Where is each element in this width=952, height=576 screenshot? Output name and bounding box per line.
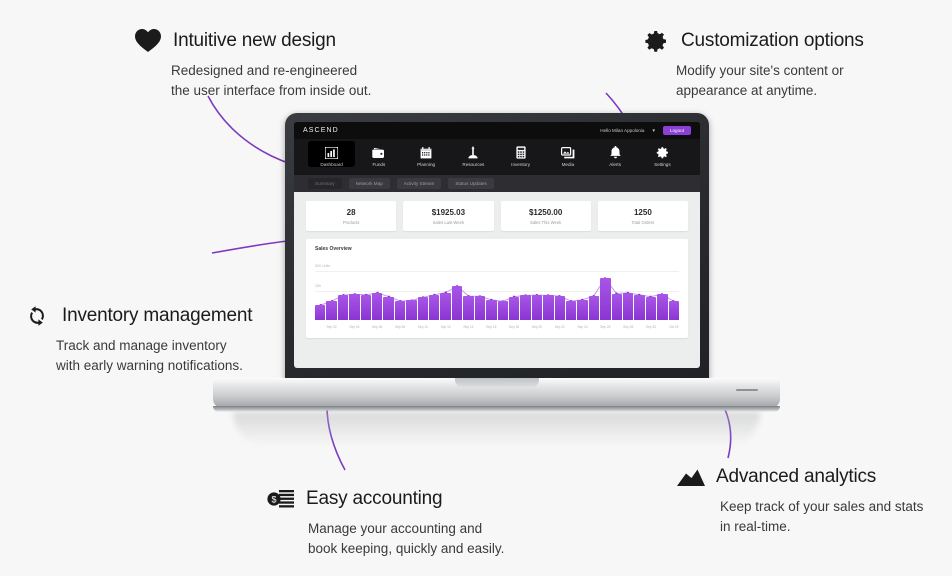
feature-advanced-analytics: Advanced analytics Keep track of your sa…: [676, 462, 923, 536]
x-tick-label: [634, 325, 644, 329]
laptop-lid: ASCEND Hello Milan Appolonia ▼ Logout Da…: [285, 113, 709, 382]
x-tick-label: [315, 325, 325, 329]
wallet-icon: [372, 145, 385, 160]
feature-customization-options: Customization options Modify your site's…: [641, 26, 864, 100]
chart-bar: [372, 293, 382, 320]
nav-label: Resources: [462, 162, 484, 167]
stat-value: 28: [306, 208, 396, 217]
chart-bar: [463, 296, 473, 320]
chart-bar: [361, 295, 371, 320]
chart-bar: [657, 294, 667, 320]
feature-desc: Keep track of your sales and statsin rea…: [720, 497, 923, 536]
chart-bar: [520, 295, 530, 320]
x-tick-label: [383, 325, 393, 329]
x-tick-label: [566, 325, 576, 329]
nav-item-settings[interactable]: Settings: [639, 141, 686, 167]
chart-x-axis: Sep 02Sep 04Sep 06Sep 08Sep 10Sep 12Sep …: [315, 325, 679, 329]
tab-summary[interactable]: Summary: [308, 178, 342, 189]
feature-intuitive-design: Intuitive new design Redesigned and re-e…: [133, 26, 371, 100]
refresh-arrows-icon: [22, 301, 52, 331]
chart-bar: [452, 286, 462, 320]
x-tick-label: Sep 30: [646, 325, 656, 329]
photos-icon: [561, 145, 575, 160]
sales-overview-panel: Sales Overview 500 Units 250 Sep 02S: [306, 239, 688, 338]
logout-button[interactable]: Logout: [663, 126, 691, 135]
chart-bar: [429, 295, 439, 320]
calendar-icon: [420, 145, 432, 160]
tab-status-updates[interactable]: Status Updates: [448, 178, 493, 189]
chart-title: Sales Overview: [315, 246, 679, 252]
stat-label: Sales This Week: [501, 220, 591, 225]
nav-label: Media: [562, 162, 575, 167]
tab-network-map[interactable]: Network Map: [349, 178, 390, 189]
x-tick-label: Sep 28: [623, 325, 633, 329]
feature-desc: Manage your accounting andbook keeping, …: [308, 519, 504, 558]
feature-title: Customization options: [681, 30, 864, 52]
chart-bar: [326, 301, 336, 320]
chart-bar: [543, 295, 553, 320]
laptop-mockup: ASCEND Hello Milan Appolonia ▼ Logout Da…: [213, 113, 780, 433]
nav-item-alerts[interactable]: Alerts: [592, 141, 639, 167]
chart-bar: [418, 297, 428, 320]
feature-title: Intuitive new design: [173, 30, 336, 52]
x-tick-label: Sep 04: [349, 325, 359, 329]
chevron-down-icon[interactable]: ▼: [651, 128, 655, 133]
chart-bar: [406, 300, 416, 320]
heart-icon: [133, 26, 163, 56]
nav-item-funds[interactable]: Funds: [355, 141, 402, 167]
bar-chart-icon: [325, 145, 338, 160]
x-tick-label: Sep 18: [509, 325, 519, 329]
x-tick-label: [429, 325, 439, 329]
chart-bar: [566, 301, 576, 320]
chart-bar: [383, 297, 393, 320]
x-tick-label: Sep 24: [577, 325, 587, 329]
chart-bar: [577, 300, 587, 320]
chart-bar: [589, 296, 599, 320]
x-tick-label: Sep 20: [532, 325, 542, 329]
stat-label: Total Orders: [598, 220, 688, 225]
nav-label: Planning: [417, 162, 435, 167]
money-invoice-icon: $: [266, 484, 296, 514]
nav-item-media[interactable]: Media: [544, 141, 591, 167]
chart-bar: [395, 301, 405, 320]
nav-item-dashboard[interactable]: Dashboard: [308, 141, 355, 167]
stat-card-row: 28 Products $1925.03 Sales Last Week $12…: [306, 201, 688, 231]
stat-value: $1250.00: [501, 208, 591, 217]
nav-label: Funds: [372, 162, 385, 167]
x-tick-label: Sep 08: [395, 325, 405, 329]
chart-bar: [475, 296, 485, 320]
tab-activity-stream[interactable]: Activity Stream: [397, 178, 442, 189]
laptop-reflection: [233, 412, 760, 446]
svg-text:$: $: [271, 495, 276, 505]
chart-bar: [532, 295, 542, 320]
app-topbar: ASCEND Hello Milan Appolonia ▼ Logout: [294, 122, 700, 139]
x-tick-label: Sep 14: [463, 325, 473, 329]
chart-bar: [555, 296, 565, 320]
feature-title: Advanced analytics: [716, 466, 876, 488]
feature-easy-accounting: $ Easy accounting Manage your accounting…: [266, 484, 504, 558]
x-tick-label: Sep 12: [440, 325, 450, 329]
chart-growth-icon: [676, 462, 706, 492]
sales-chart[interactable]: 500 Units 250 Sep 02Sep 04Sep 06Sep 08Se…: [315, 257, 679, 329]
chart-bar: [669, 301, 679, 320]
stat-card[interactable]: $1925.03 Sales Last Week: [403, 201, 493, 231]
x-tick-label: [361, 325, 371, 329]
nav-item-inventory[interactable]: Inventory: [497, 141, 544, 167]
chart-bar: [509, 297, 519, 320]
app-logo: ASCEND: [303, 127, 339, 134]
stat-value: 1250: [598, 208, 688, 217]
chart-bar: [498, 301, 508, 320]
nav-label: Dashboard: [320, 162, 342, 167]
x-tick-label: Sep 10: [418, 325, 428, 329]
laptop-screen: ASCEND Hello Milan Appolonia ▼ Logout Da…: [294, 122, 700, 368]
stat-card[interactable]: 1250 Total Orders: [598, 201, 688, 231]
x-tick-label: Sep 22: [555, 325, 565, 329]
app-navbar: Dashboard Funds Planning: [294, 139, 700, 175]
gear-icon: [641, 26, 671, 56]
x-tick-label: [520, 325, 530, 329]
stat-value: $1925.03: [403, 208, 493, 217]
x-tick-label: Oct 02: [669, 325, 679, 329]
chart-bar: [634, 295, 644, 320]
nav-label: Inventory: [511, 162, 530, 167]
user-greeting[interactable]: Hello Milan Appolonia: [600, 128, 644, 133]
feature-desc: Modify your site's content orappearance …: [676, 61, 864, 100]
stat-label: Products: [306, 220, 396, 225]
x-tick-label: [657, 325, 667, 329]
chart-bar: [600, 278, 610, 320]
chart-bar: [338, 295, 348, 320]
stat-label: Sales Last Week: [403, 220, 493, 225]
x-tick-label: Sep 26: [600, 325, 610, 329]
stat-card[interactable]: $1250.00 Sales This Week: [501, 201, 591, 231]
laptop-base: [213, 378, 780, 408]
chart-bar: [612, 294, 622, 320]
gear-icon: [656, 145, 669, 160]
promo-illustration: Intuitive new design Redesigned and re-e…: [0, 0, 952, 576]
x-tick-label: Sep 16: [486, 325, 496, 329]
app-tabbar: Summary Network Map Activity Stream Stat…: [294, 175, 700, 192]
nav-item-planning[interactable]: Planning: [403, 141, 450, 167]
x-tick-label: [543, 325, 553, 329]
x-tick-label: Sep 06: [372, 325, 382, 329]
x-tick-label: [498, 325, 508, 329]
nav-item-resources[interactable]: Resources: [450, 141, 497, 167]
chart-bars: [315, 257, 679, 320]
x-tick-label: [406, 325, 416, 329]
x-tick-label: [475, 325, 485, 329]
chart-bar: [646, 297, 656, 320]
feature-desc: Redesigned and re-engineeredthe user int…: [171, 61, 371, 100]
laptop-foot: [213, 406, 780, 412]
calculator-icon: [516, 145, 526, 160]
bell-icon: [610, 145, 621, 160]
chart-bar: [440, 293, 450, 320]
stat-card[interactable]: 28 Products: [306, 201, 396, 231]
chart-bar: [623, 293, 633, 320]
chart-bar: [486, 300, 496, 320]
x-tick-label: [589, 325, 599, 329]
x-tick-label: Sep 02: [326, 325, 336, 329]
dashboard-content: 28 Products $1925.03 Sales Last Week $12…: [294, 192, 700, 368]
chart-bar: [349, 294, 359, 320]
nav-label: Settings: [654, 162, 671, 167]
feature-title: Easy accounting: [306, 488, 442, 510]
chart-bar: [315, 305, 325, 320]
x-tick-label: [612, 325, 622, 329]
x-tick-label: [338, 325, 348, 329]
nav-label: Alerts: [609, 162, 621, 167]
tower-icon: [467, 145, 479, 160]
x-tick-label: [452, 325, 462, 329]
